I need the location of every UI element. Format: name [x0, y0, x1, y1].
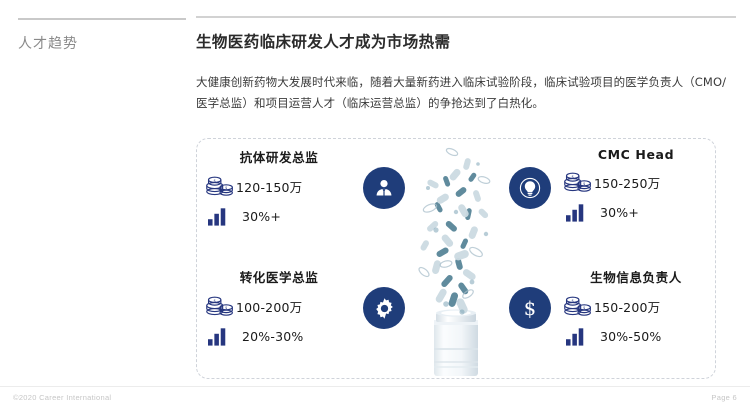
pills-erupting-from-bottle-illustration [400, 142, 512, 378]
person-icon [372, 176, 396, 200]
role-badge [363, 167, 405, 209]
salary-value: 120-150万 [236, 177, 302, 196]
salary-row: $ $ 150-200万 [563, 295, 709, 317]
role-badge [363, 287, 405, 329]
svg-text:$: $ [225, 186, 227, 190]
role-title: CMC Head [563, 147, 709, 162]
content-header: 生物医药临床研发人才成为市场热需 大健康创新药物大发展时代来临，随着大量新药进入… [196, 16, 736, 114]
lightbulb-icon [518, 176, 542, 200]
gear-icon [372, 296, 397, 321]
page-title: 生物医药临床研发人才成为市场热需 [196, 30, 736, 52]
role-text-column: 转化医学总监 $ $ [205, 267, 353, 346]
role-card-bottom-left: 转化医学总监 $ $ [205, 267, 405, 367]
growth-row: 20%-30% [205, 327, 353, 346]
role-title: 转化医学总监 [205, 267, 353, 286]
salary-row: $ $ 100-200万 [205, 295, 353, 317]
bar-chart-icon [566, 327, 586, 346]
svg-text:$: $ [583, 182, 585, 186]
role-text-column: 抗体研发总监 $ $ [205, 147, 353, 226]
dollar-sign-icon: $ [517, 295, 543, 321]
growth-row: 30%+ [563, 203, 709, 222]
role-badge [509, 167, 551, 209]
role-title: 抗体研发总监 [205, 147, 353, 166]
svg-text:$: $ [225, 306, 227, 310]
growth-row: 30%-50% [563, 327, 709, 346]
salary-row: $ $ 120-150万 [205, 175, 353, 197]
section-label: 人才趋势 [18, 33, 186, 53]
salary-row: $ $ 150-250万 [563, 171, 709, 193]
coin-stack-icon: $ $ [205, 295, 235, 317]
copyright-text: ©2020 Career International [13, 393, 111, 402]
growth-value: 30%-50% [600, 329, 661, 344]
salary-value: 150-250万 [594, 173, 660, 192]
title-divider [196, 16, 736, 18]
growth-value: 30%+ [600, 205, 639, 220]
role-badge: $ [509, 287, 551, 329]
role-text-column: CMC Head $ [563, 147, 709, 222]
salary-value: 150-200万 [594, 297, 660, 316]
role-text-column: 生物信息负责人 $ [563, 267, 709, 346]
bar-chart-icon [208, 207, 228, 226]
coin-stack-icon: $ $ [563, 295, 593, 317]
role-title: 生物信息负责人 [563, 267, 709, 286]
role-card-top-right: CMC Head $ [509, 147, 709, 247]
growth-value: 30%+ [242, 209, 281, 224]
coin-stack-icon: $ $ [563, 171, 593, 193]
bar-chart-icon [566, 203, 586, 222]
left-rail-divider [18, 18, 186, 20]
svg-text:$: $ [583, 306, 585, 310]
left-rail: 人才趋势 [18, 18, 186, 53]
growth-row: 30%+ [205, 207, 353, 226]
page-number: Page 6 [711, 393, 737, 402]
intro-paragraph: 大健康创新药物大发展时代来临，随着大量新药进入临床试验阶段，临床试验项目的医学负… [196, 72, 736, 114]
growth-value: 20%-30% [242, 329, 303, 344]
svg-text:$: $ [524, 297, 536, 320]
salary-value: 100-200万 [236, 297, 302, 316]
footer-divider [0, 386, 750, 387]
role-card-top-left: 抗体研发总监 $ $ [205, 147, 405, 247]
role-card-bottom-right: $ 生物信息负责人 [509, 267, 709, 367]
bar-chart-icon [208, 327, 228, 346]
coin-stack-icon: $ $ [205, 175, 235, 197]
